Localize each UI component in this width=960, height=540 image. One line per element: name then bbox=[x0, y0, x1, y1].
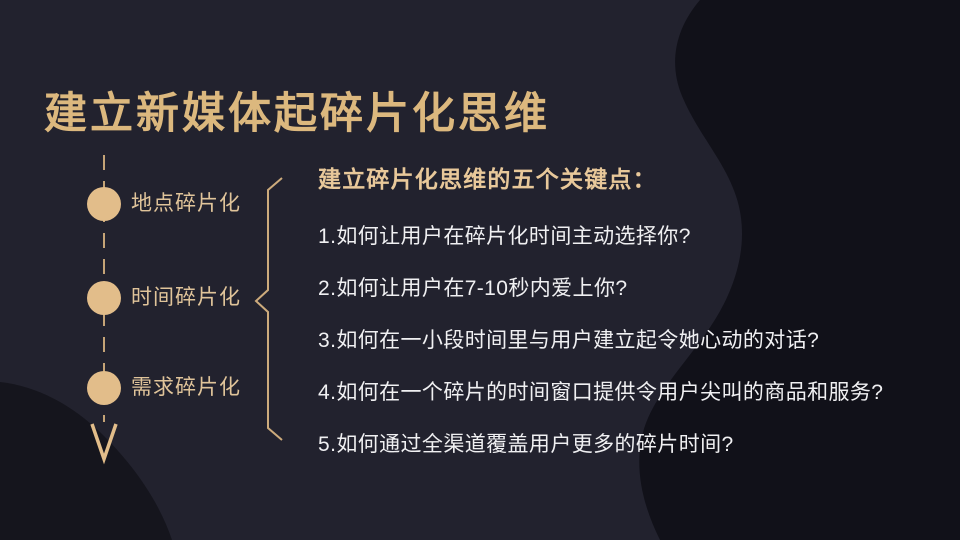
key-points-list: 1.如何让用户在碎片化时间主动选择你? 2.如何让用户在7-10秒内爱上你? 3… bbox=[318, 224, 948, 458]
timeline-graphics bbox=[0, 0, 300, 540]
timeline-dot-icon bbox=[87, 371, 121, 405]
key-points-heading: 建立碎片化思维的五个关键点： bbox=[318, 166, 948, 194]
list-item: 4.如何在一个碎片的时间窗口提供令用户尖叫的商品和服务? bbox=[318, 380, 948, 405]
chevron-down-arrow-icon bbox=[92, 424, 116, 459]
list-item: 2.如何让用户在7-10秒内爱上你? bbox=[318, 276, 948, 301]
list-item: 1.如何让用户在碎片化时间主动选择你? bbox=[318, 224, 948, 249]
timeline-dot-icon bbox=[87, 187, 121, 221]
list-item: 5.如何通过全渠道覆盖用户更多的碎片时间? bbox=[318, 432, 948, 457]
timeline-item-label: 时间碎片化 bbox=[131, 280, 241, 316]
timeline-dot-icon bbox=[87, 281, 121, 315]
curly-brace bbox=[256, 178, 282, 440]
presentation-slide: 建立新媒体起碎片化思维 地点碎片化 时间碎片化 需求碎片化 建立碎片化思维 bbox=[0, 0, 960, 540]
timeline-item-label: 需求碎片化 bbox=[131, 370, 241, 406]
timeline: 地点碎片化 时间碎片化 需求碎片化 bbox=[0, 0, 300, 540]
timeline-item-label: 地点碎片化 bbox=[131, 186, 241, 222]
key-points-panel: 建立碎片化思维的五个关键点： 1.如何让用户在碎片化时间主动选择你? 2.如何让… bbox=[318, 166, 948, 458]
list-item: 3.如何在一小段时间里与用户建立起令她心动的对话? bbox=[318, 328, 948, 353]
